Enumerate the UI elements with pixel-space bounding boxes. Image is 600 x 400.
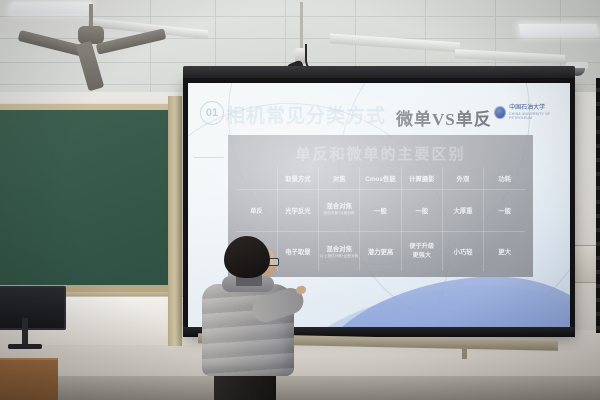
wall-column-trim (168, 96, 182, 346)
table-row: 单反 光学反光 混合对焦 相位对焦+反差对焦 ✦ 一般 一般 大厚重 一般 (236, 190, 525, 232)
comparison-table-title: 单反和微单的主要区别 (228, 143, 533, 164)
table-header-cell: 功耗 (484, 167, 525, 190)
monitor-stand (22, 318, 28, 346)
university-logo-text: 中国石油大学 (509, 105, 570, 112)
table-cell: 更大 (484, 232, 525, 271)
boom-rod (300, 2, 303, 50)
table-cell: 光学反光 (277, 190, 318, 232)
ceiling-fan-rod (89, 4, 93, 28)
table-header-cell: 取景方式 (277, 167, 318, 190)
table-row-label: 单反 (236, 190, 277, 232)
presenter-hand (295, 285, 307, 295)
table-cell: 小巧轻 (442, 232, 483, 271)
university-logo-mark-icon (494, 106, 506, 119)
table-cell: 大厚重 (442, 190, 483, 232)
ceiling-light-panel (8, 2, 92, 14)
slide-section-title: 相机常见分类方式 (226, 101, 386, 128)
table-cell: 一般 (484, 190, 525, 232)
blackboard (0, 104, 174, 296)
university-logo-subtext: CHINA UNIVERSITY OF PETROLEUM (509, 112, 570, 120)
slide-section-badge: 01 (200, 101, 224, 125)
table-cell: 潜力更高 (360, 232, 401, 271)
ceiling-light-panel (519, 24, 600, 36)
blackboard-surface (0, 110, 168, 285)
presenter-hair (224, 236, 270, 278)
presenter (196, 236, 308, 400)
table-cell: 便于升级 更强大 (401, 232, 442, 271)
table-header-cell: Cmos性能 (360, 167, 401, 190)
slide-vs-title: 微单VS单反 (396, 105, 492, 130)
table-cell: 一般 (401, 190, 442, 232)
table-header-cell: 外观 (442, 167, 483, 190)
monitor-stand-base (8, 344, 42, 349)
table-header-cell (236, 167, 277, 190)
table-cell: 混合对焦 相位对焦+反差对焦 ✦ (319, 190, 360, 232)
slide-rule (194, 157, 224, 158)
classroom-scene-photo: 01 相机常见分类方式 微单VS单反 中国石油大学 CHINA UNIVERSI… (0, 0, 600, 400)
table-header-cell: 对焦 (319, 167, 360, 190)
table-header-row: 取景方式 对焦 Cmos性能 计算摄影 外观 功耗 (236, 167, 525, 190)
wall-ledge-bracket (462, 345, 467, 359)
projection-screen-right-edge (596, 78, 600, 333)
desktop-monitor (0, 286, 66, 330)
table-header-cell: 计算摄影 (401, 167, 442, 190)
podium (0, 358, 58, 400)
table-cell: 一般 (360, 190, 401, 232)
table-cell: 混合对焦 片上相位对焦+反差对焦 (319, 232, 360, 271)
university-logo: 中国石油大学 CHINA UNIVERSITY OF PETROLEUM (494, 105, 570, 120)
